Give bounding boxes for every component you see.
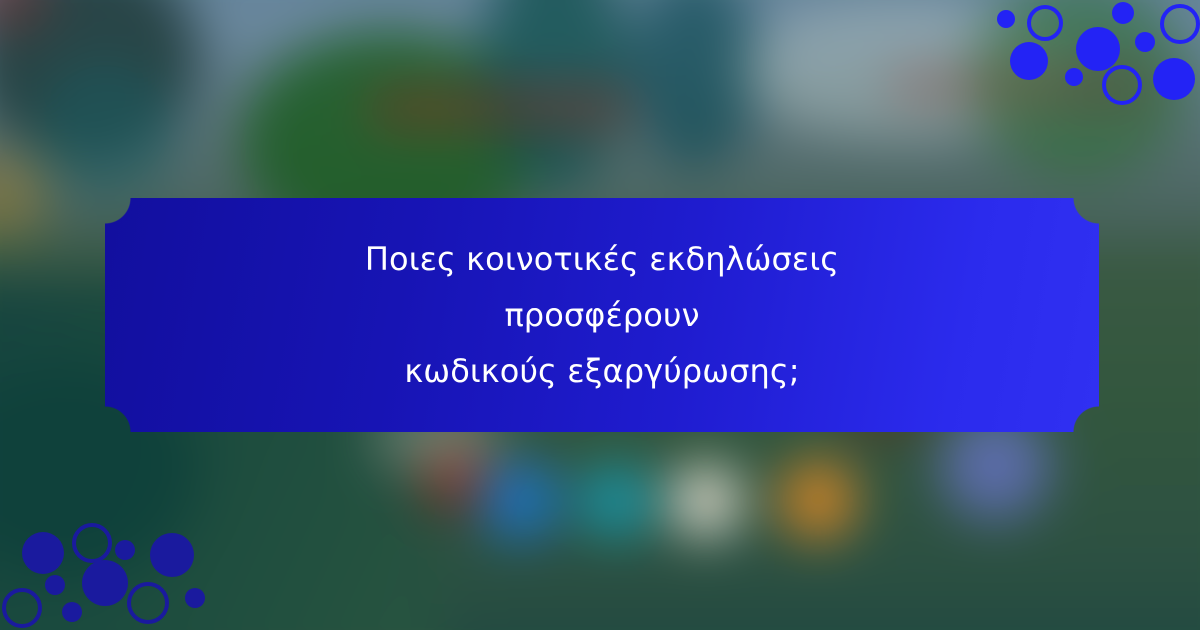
- item-icon-blue: [480, 460, 560, 540]
- item-icon-orange: [780, 460, 856, 540]
- item-icon-white: [670, 465, 742, 537]
- question-text: Ποιες κοινοτικές εκδηλώσεις προσφέρουνκω…: [222, 231, 982, 399]
- poster-stage: Ποιες κοινοτικές εκδηλώσεις προσφέρουνκω…: [0, 0, 1200, 630]
- circle-tr-7: [1135, 32, 1155, 52]
- circle-tr-4: [1065, 68, 1083, 86]
- question-line-1: Ποιες κοινοτικές εκδηλώσεις προσφέρουν: [365, 240, 839, 334]
- circle-tr-8: [1160, 4, 1200, 44]
- circle-bl-5: [45, 575, 65, 595]
- circle-bl-10: [185, 588, 205, 608]
- circle-bl-6: [82, 560, 128, 606]
- decorative-dots-top-right: [990, 0, 1200, 110]
- circle-bl-4: [150, 533, 194, 577]
- circle-tr-3: [1010, 42, 1048, 80]
- circle-tr-9: [1102, 65, 1142, 105]
- decorative-dots-bottom-left: [0, 520, 210, 630]
- scenery-blob-red-stripe: [370, 90, 630, 126]
- circle-bl-8: [127, 582, 169, 624]
- circle-bl-9: [62, 602, 82, 622]
- circle-tr-2: [1027, 5, 1063, 41]
- circle-tr-1: [997, 10, 1015, 28]
- scenery-blob-teal-left: [30, 60, 180, 200]
- circle-bl-7: [2, 588, 42, 628]
- circle-tr-5: [1076, 27, 1120, 71]
- item-icon-cyan: [580, 465, 652, 537]
- question-line-2: κωδικούς εξαργύρωσης;: [404, 352, 799, 390]
- circle-bl-2: [72, 523, 112, 563]
- question-banner: Ποιες κοινοτικές εκδηλώσεις προσφέρουνκω…: [105, 198, 1099, 432]
- circle-bl-1: [22, 532, 64, 574]
- circle-bl-3: [115, 540, 135, 560]
- circle-tr-10: [1153, 58, 1195, 100]
- circle-tr-6: [1112, 2, 1134, 24]
